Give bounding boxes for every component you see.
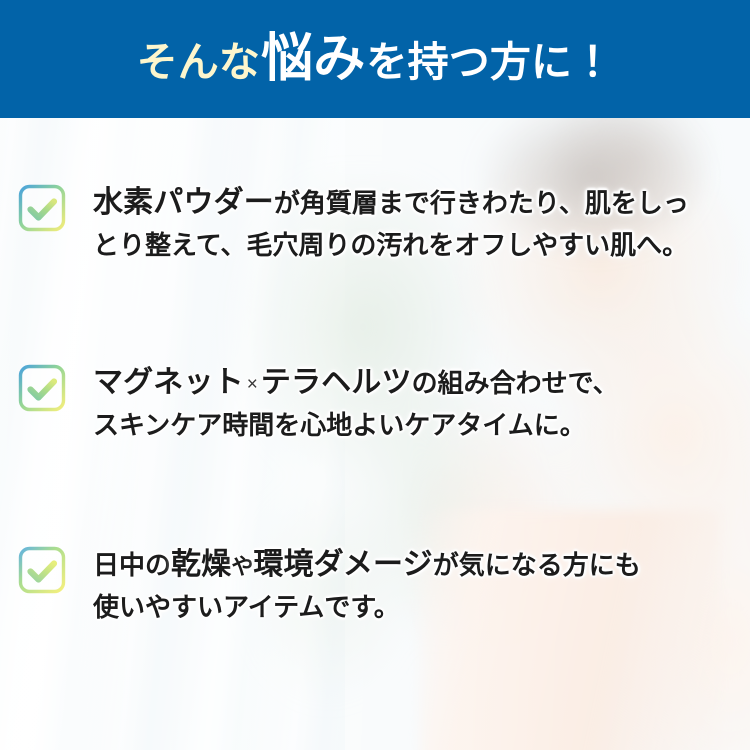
list-item-line: マグネット×テラヘルツの組み合わせで、 bbox=[93, 360, 732, 406]
header-title-segment-2: 悩み bbox=[261, 33, 365, 85]
body-text: の組み合わせで、 bbox=[412, 368, 619, 398]
multiply-symbol: × bbox=[244, 374, 261, 395]
list-item: 水素パウダーが角質層まで行きわたり、肌をしっ とり整えて、毛穴周りの汚れをオフし… bbox=[0, 180, 750, 265]
body-text: とり整えて、毛穴周りの汚れをオフしやすい肌へ。 bbox=[93, 230, 688, 260]
list-item-line: 水素パウダーが角質層まで行きわたり、肌をしっ bbox=[93, 180, 732, 226]
list-item-line: 使いやすいアイテムです。 bbox=[93, 588, 732, 628]
list-item: 日中の乾燥や環境ダメージが気になる方にも 使いやすいアイテムです。 bbox=[0, 542, 750, 627]
body-text: 日中の bbox=[93, 550, 171, 580]
list-item-line: とり整えて、毛穴周りの汚れをオフしやすい肌へ。 bbox=[93, 226, 732, 266]
body-text: が角質層まで行きわたり、肌をしっ bbox=[274, 188, 689, 218]
check-square-icon bbox=[17, 183, 67, 233]
emphasis-text: 環境ダメージ bbox=[253, 548, 432, 581]
body-text: や bbox=[231, 554, 253, 579]
header-title-segment-3: を持つ方に！ bbox=[366, 42, 613, 83]
header-title-segment-1: そんな bbox=[137, 42, 260, 83]
body-text: スキンケア時間を心地よいケアタイムに。 bbox=[93, 410, 586, 440]
list-item-text: マグネット×テラヘルツの組み合わせで、 スキンケア時間を心地よいケアタイムに。 bbox=[67, 360, 750, 445]
check-square-icon bbox=[17, 545, 67, 595]
header-title: そんな 悩み を持つ方に！ bbox=[137, 33, 614, 85]
body-text: が気になる方にも bbox=[433, 550, 641, 580]
body-text: 使いやすいアイテムです。 bbox=[93, 592, 400, 622]
emphasis-text: 乾燥 bbox=[171, 548, 231, 581]
list-item: マグネット×テラヘルツの組み合わせで、 スキンケア時間を心地よいケアタイムに。 bbox=[0, 360, 750, 445]
emphasis-text: 水素パウダー bbox=[93, 186, 274, 219]
header-banner: そんな 悩み を持つ方に！ bbox=[0, 0, 750, 118]
check-square-icon bbox=[17, 363, 67, 413]
promo-banner-page: そんな 悩み を持つ方に！ bbox=[0, 0, 750, 750]
emphasis-text: マグネット bbox=[93, 366, 244, 399]
list-item-text: 日中の乾燥や環境ダメージが気になる方にも 使いやすいアイテムです。 bbox=[67, 542, 750, 627]
emphasis-text: テラヘルツ bbox=[261, 366, 412, 399]
benefit-list: 水素パウダーが角質層まで行きわたり、肌をしっ とり整えて、毛穴周りの汚れをオフし… bbox=[0, 118, 750, 750]
list-item-line: スキンケア時間を心地よいケアタイムに。 bbox=[93, 406, 732, 446]
list-item-line: 日中の乾燥や環境ダメージが気になる方にも bbox=[93, 542, 732, 588]
list-item-text: 水素パウダーが角質層まで行きわたり、肌をしっ とり整えて、毛穴周りの汚れをオフし… bbox=[67, 180, 750, 265]
